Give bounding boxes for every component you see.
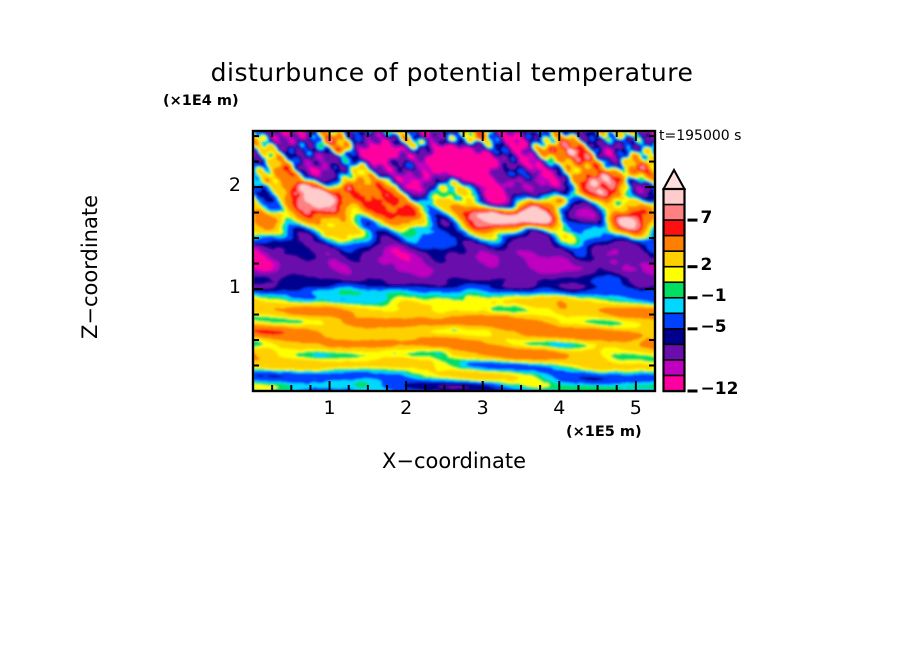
contour-plot [0,0,904,654]
contour-field [253,131,655,391]
colorbar-tick-label: 7 [701,208,713,228]
y-tick-label: 1 [213,276,241,298]
colorbar [664,170,698,391]
colorbar-tick-label: −5 [701,317,727,337]
x-tick-label: 3 [463,397,503,419]
colorbar-tick-label: −1 [701,286,727,306]
x-tick-label: 1 [310,397,350,419]
colorbar-tick-label: −12 [701,379,739,399]
figure-canvas: disturbunce of potential temperature (×1… [0,0,904,654]
x-tick-label: 5 [616,397,656,419]
x-tick-label: 4 [539,397,579,419]
y-tick-label: 2 [213,174,241,196]
x-tick-label: 2 [386,397,426,419]
colorbar-tick-label: 2 [701,255,713,275]
